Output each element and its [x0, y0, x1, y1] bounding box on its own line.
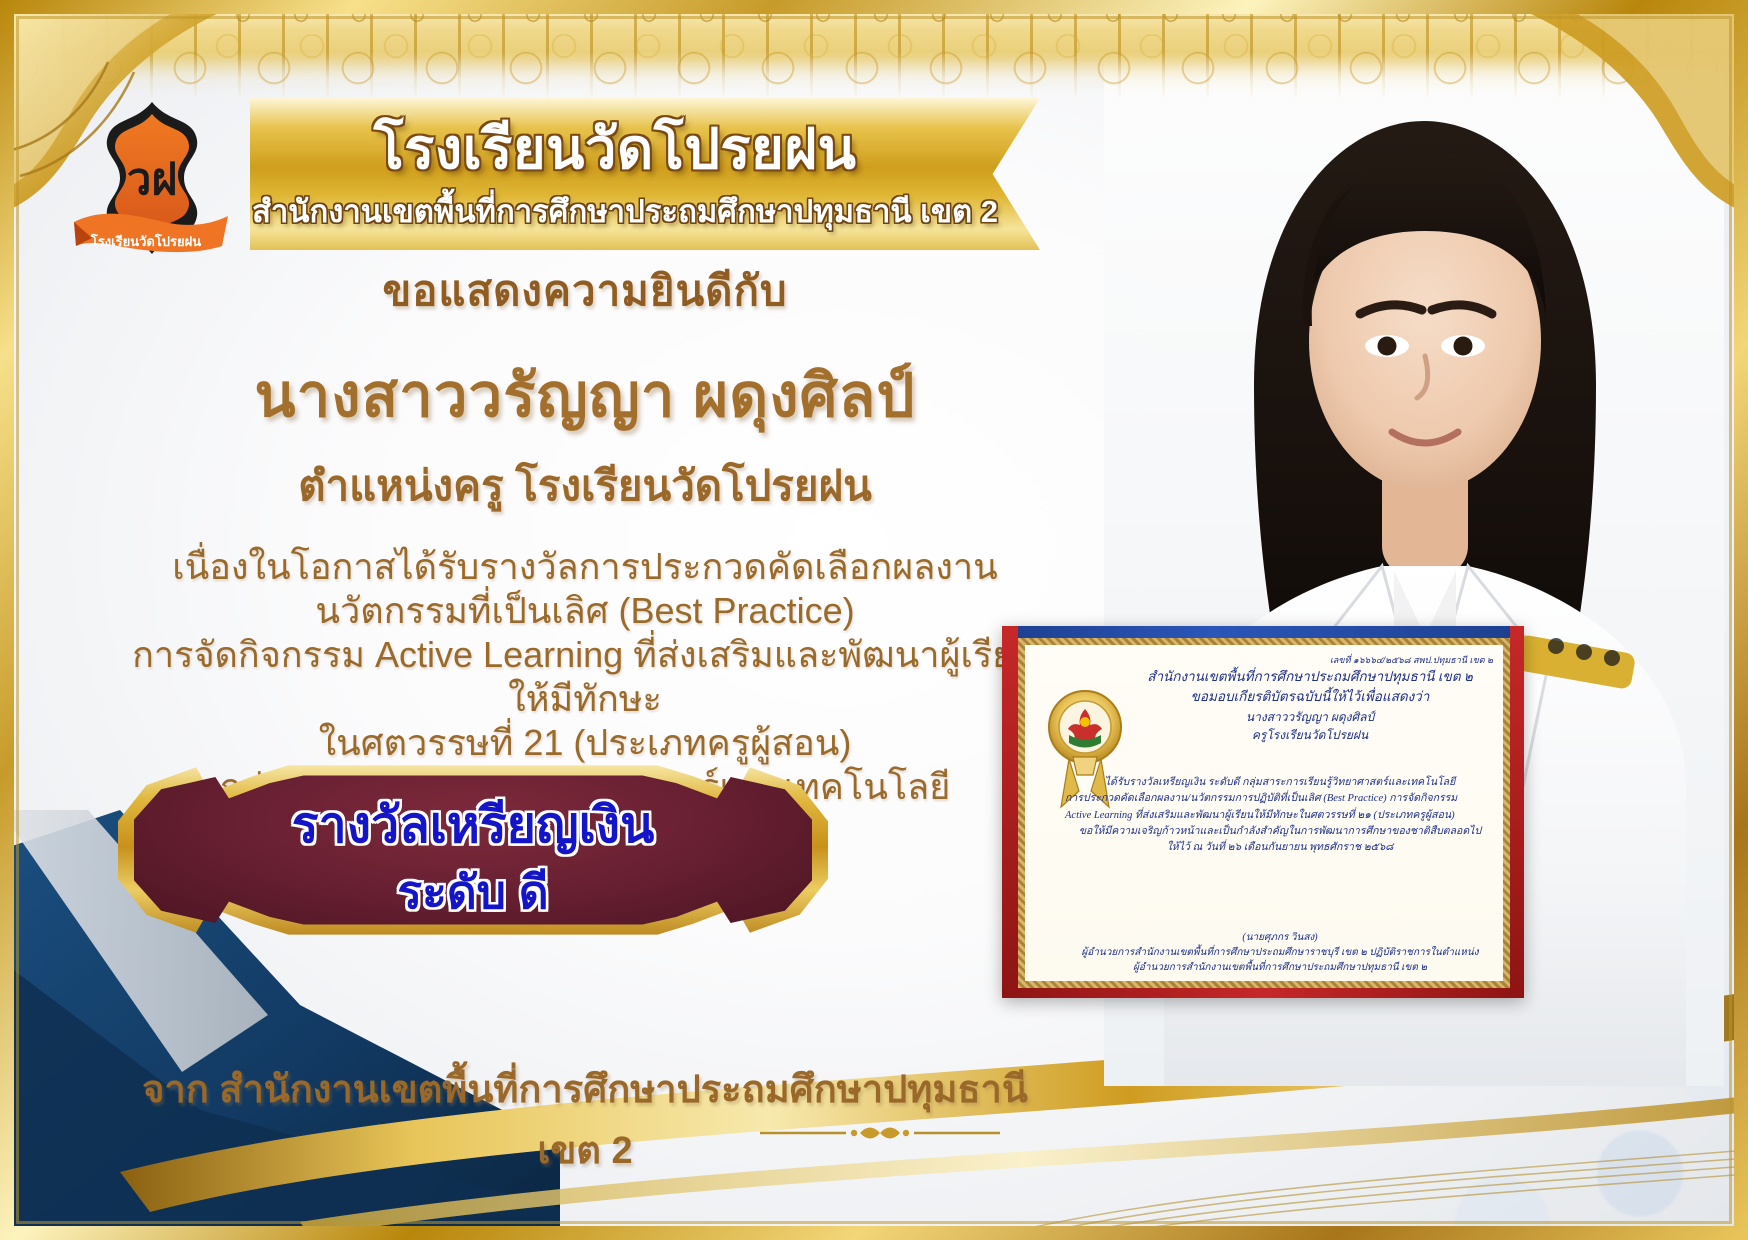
main-text-column: ขอแสดงความยินดีกับ นางสาววรัญญา ผดุงศิลป… — [120, 258, 1050, 808]
inset-signer-title-2: ผู้อำนวยการสำนักงานเขตพื้นที่การศึกษาประ… — [1065, 960, 1495, 975]
header-banner: โรงเรียนวัดโปรยฝน สำนักงานเขตพื้นที่การศ… — [250, 98, 1040, 250]
inset-office-name: สำนักงานเขตพื้นที่การศึกษาประถมศึกษาปทุม… — [1125, 667, 1495, 687]
award-plaque: รางวัลเหรียญเงิน ระดับ ดี — [118, 760, 828, 940]
award-description-line-1: เนื่องในโอกาสได้รับรางวัลการประกวดคัดเลื… — [120, 545, 1050, 589]
inset-body-line-1: ได้รับรางวัลเหรียญเงิน ระดับดี กลุ่มสาระ… — [1065, 775, 1495, 791]
inset-certificate-paper: เลขที่ ๑๖๖๖๔/๒๕๖๘ สพป.ปทุมธานี เขต ๒ — [1018, 638, 1510, 988]
inset-edge-left — [1002, 626, 1018, 998]
logo-letters-text: วฝ — [127, 155, 178, 204]
inset-date-line: ให้ไว้ ณ วันที่ ๒๖ เดือนกันยายน พุทธศักร… — [1065, 840, 1495, 856]
congratulations-heading: ขอแสดงความยินดีกับ — [120, 258, 1050, 324]
education-office-subtitle: สำนักงานเขตพื้นที่การศึกษาประถมศึกษาปทุม… — [250, 186, 1000, 236]
inset-edge-top — [1002, 626, 1524, 638]
inset-body-line-3: Active Learning ที่ส่งเสริมและพัฒนาผู้เร… — [1065, 808, 1495, 824]
award-description-line-3: การจัดกิจกรรม Active Learning ที่ส่งเสริ… — [120, 633, 1050, 721]
inset-recipient-role: ครูโรงเรียนวัดโปรยฝน — [1125, 726, 1495, 744]
inset-signature-block: (นายศุภกร วินสง) ผู้อำนวยการสำนักงานเขตพ… — [1065, 930, 1495, 975]
inset-heading-block: สำนักงานเขตพื้นที่การศึกษาประถมศึกษาปทุม… — [1125, 667, 1495, 744]
inset-recipient-name: นางสาววรัญญา ผดุงศิลป์ — [1125, 708, 1495, 726]
award-medal-label: รางวัลเหรียญเงิน — [118, 786, 828, 865]
inset-edge-right — [1510, 626, 1524, 998]
inset-body-line-2: การประกวดคัดเลือกผลงาน/นวัตกรรมการปฏิบัต… — [1065, 791, 1495, 807]
inset-certificate-photo: เลขที่ ๑๖๖๖๔/๒๕๖๘ สพป.ปทุมธานี เขต ๒ — [1002, 626, 1524, 998]
inset-body-line-4: ขอให้มีความเจริญก้าวหน้าและเป็นกำลังสำคั… — [1065, 824, 1495, 840]
inset-body-block: ได้รับรางวัลเหรียญเงิน ระดับดี กลุ่มสาระ… — [1065, 775, 1495, 856]
award-description-line-2: นวัตกรรมที่เป็นเลิศ (Best Practice) — [120, 589, 1050, 633]
recipient-position: ตำแหน่งครู โรงเรียนวัดโปรยฝน — [120, 453, 1050, 519]
award-description-line-4: ในศตวรรษที่ 21 (ประเภทครูผู้สอน) — [120, 721, 1050, 765]
school-name-title: โรงเรียนวัดโปรยฝน — [250, 104, 980, 193]
school-logo: วฝ โรงเรียนวัดโปรยฝน — [72, 96, 232, 261]
award-level-label: ระดับ ดี — [118, 856, 828, 929]
inset-award-statement: ขอมอบเกียรติบัตรฉบับนี้ให้ไว้เพื่อแสดงว่… — [1125, 687, 1495, 707]
recipient-name: นางสาววรัญญา ผดุงศิลป์ — [120, 348, 1050, 443]
inset-signer-name: (นายศุภกร วินสง) — [1065, 930, 1495, 945]
certificate-canvas: วฝ โรงเรียนวัดโปรยฝน โรงเรียนวัดโปรยฝน ส… — [0, 0, 1748, 1240]
lace-scroll-pattern — [0, 34, 1748, 88]
footer-ornament — [760, 1118, 1000, 1148]
logo-ribbon-text: โรงเรียนวัดโปรยฝน — [90, 233, 201, 249]
inset-document-number: เลขที่ ๑๖๖๖๔/๒๕๖๘ สพป.ปทุมธานี เขต ๒ — [1330, 653, 1493, 667]
inset-signer-title-1: ผู้อำนวยการสำนักงานเขตพื้นที่การศึกษาประ… — [1065, 945, 1495, 960]
inset-edge-bottom — [1002, 988, 1524, 998]
